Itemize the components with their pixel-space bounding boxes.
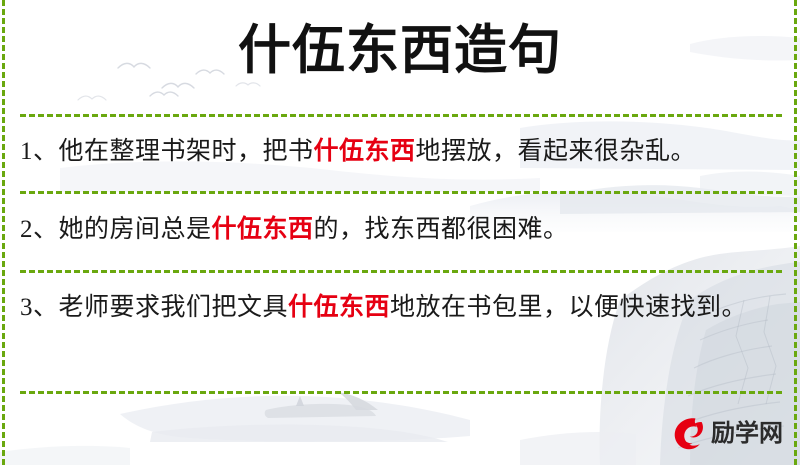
page-title-block: 什伍东西造句 bbox=[0, 22, 800, 80]
page-title: 什伍东西造句 bbox=[238, 22, 562, 80]
sentence-3-after: 地放在书包里，以便快速找到。 bbox=[390, 294, 747, 321]
red-swirl-flame-icon bbox=[668, 413, 710, 455]
brand-name: 励学网 bbox=[711, 422, 783, 446]
sentence-1-index: 1、 bbox=[20, 138, 59, 165]
sentence-1-before: 他在整理书架时，把书 bbox=[59, 138, 314, 165]
left-dashed-rail bbox=[2, 0, 5, 465]
sentence-3-index: 3、 bbox=[20, 294, 59, 321]
sentence-3-before: 老师要求我们把文具 bbox=[59, 294, 289, 321]
example-sentence-3: 3、老师要求我们把文具什伍东西地放在书包里，以便快速找到。 bbox=[20, 286, 782, 330]
example-sentence-1: 1、他在整理书架时，把书什伍东西地摆放，看起来很杂乱。 bbox=[20, 130, 782, 174]
content-column: 什伍东西造句 1、他在整理书架时，把书什伍东西地摆放，看起来很杂乱。 2、她的房… bbox=[0, 0, 800, 465]
sentence-2-before: 她的房间总是 bbox=[59, 216, 212, 243]
sentence-2-keyword: 什伍东西 bbox=[212, 216, 314, 243]
sentence-1-keyword: 什伍东西 bbox=[314, 138, 416, 165]
sentence-1-after: 地摆放，看起来很杂乱。 bbox=[416, 138, 697, 165]
example-sentence-2: 2、她的房间总是什伍东西的，找东西都很困难。 bbox=[20, 208, 782, 252]
sentence-2-after: 的，找东西都很困难。 bbox=[314, 216, 569, 243]
separator-3 bbox=[20, 270, 782, 273]
worksheet-page: 什伍东西造句 1、他在整理书架时，把书什伍东西地摆放，看起来很杂乱。 2、她的房… bbox=[0, 0, 800, 465]
separator-4 bbox=[20, 391, 782, 394]
sentence-3-keyword: 什伍东西 bbox=[288, 294, 390, 321]
separator-1 bbox=[20, 114, 782, 117]
right-dashed-rail bbox=[794, 0, 797, 465]
brand-watermark: 励学网 bbox=[668, 410, 788, 458]
separator-2 bbox=[20, 191, 782, 194]
sentence-2-index: 2、 bbox=[20, 216, 59, 243]
